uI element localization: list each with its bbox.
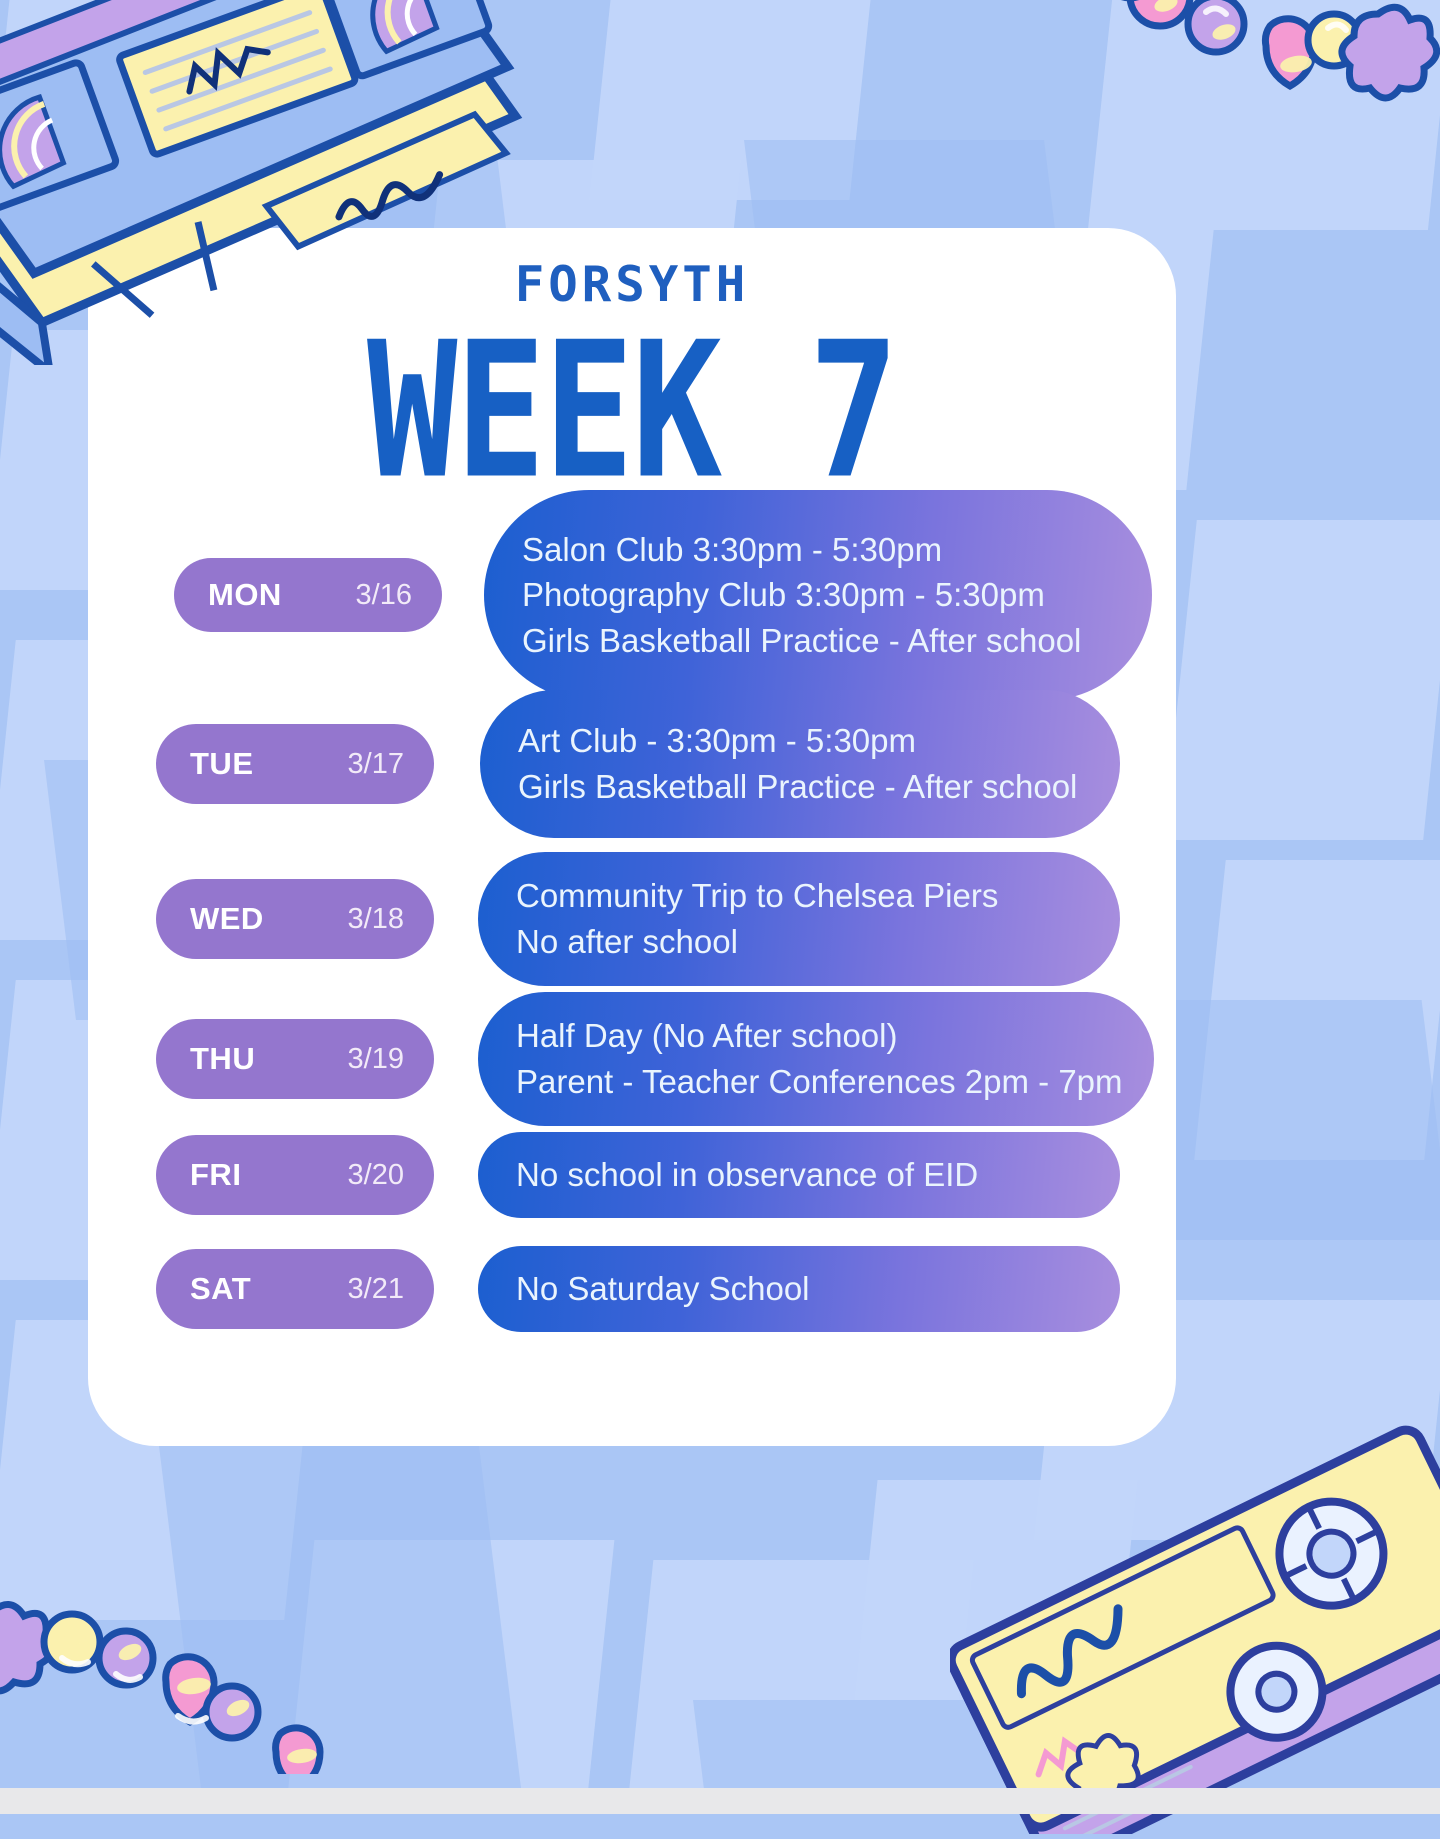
schedule-row: WED3/18Community Trip to Chelsea PiersNo… (0, 852, 1264, 986)
day-abbreviation: SAT (190, 1271, 251, 1307)
event-line: Girls Basketball Practice - After school (518, 764, 1098, 810)
event-pill-wed[interactable]: Community Trip to Chelsea PiersNo after … (478, 852, 1120, 986)
event-line: Community Trip to Chelsea Piers (516, 873, 1098, 919)
day-date: 3/16 (356, 579, 412, 612)
event-pill-sat[interactable]: No Saturday School (478, 1246, 1120, 1332)
schedule-row: MON3/16Salon Club 3:30pm - 5:30pmPhotogr… (0, 490, 1264, 700)
event-pill-thu[interactable]: Half Day (No After school)Parent - Teach… (478, 992, 1154, 1126)
day-pill-tue[interactable]: TUE3/17 (156, 724, 434, 804)
day-date: 3/20 (348, 1159, 404, 1192)
event-line: Girls Basketball Practice - After school (522, 618, 1130, 664)
page-title-week: WEEK 7 (0, 318, 1264, 506)
event-line: No Saturday School (516, 1266, 1098, 1312)
day-pill-sat[interactable]: SAT3/21 (156, 1249, 434, 1329)
event-pill-mon[interactable]: Salon Club 3:30pm - 5:30pmPhotography Cl… (484, 490, 1152, 700)
event-line: No after school (516, 919, 1098, 965)
day-date: 3/19 (348, 1043, 404, 1076)
event-line: No school in observance of EID (516, 1152, 1098, 1198)
day-abbreviation: WED (190, 901, 264, 937)
day-pill-fri[interactable]: FRI3/20 (156, 1135, 434, 1215)
day-pill-thu[interactable]: THU3/19 (156, 1019, 434, 1099)
event-line: Half Day (No After school) (516, 1013, 1132, 1059)
schedule-row: SAT3/21No Saturday School (0, 1246, 1264, 1332)
day-abbreviation: TUE (190, 746, 254, 782)
day-date: 3/17 (348, 748, 404, 781)
event-pill-tue[interactable]: Art Club - 3:30pm - 5:30pmGirls Basketba… (480, 690, 1120, 838)
schedule-row: THU3/19Half Day (No After school)Parent … (0, 992, 1264, 1126)
schedule-row: FRI3/20No school in observance of EID (0, 1132, 1264, 1218)
schedule-row: TUE3/17Art Club - 3:30pm - 5:30pmGirls B… (0, 690, 1264, 838)
bottom-strip (0, 1788, 1440, 1814)
event-line: Photography Club 3:30pm - 5:30pm (522, 572, 1130, 618)
day-date: 3/18 (348, 903, 404, 936)
day-date: 3/21 (348, 1273, 404, 1306)
day-abbreviation: FRI (190, 1157, 241, 1193)
event-pill-fri[interactable]: No school in observance of EID (478, 1132, 1120, 1218)
day-pill-wed[interactable]: WED3/18 (156, 879, 434, 959)
day-abbreviation: THU (190, 1041, 255, 1077)
event-line: Salon Club 3:30pm - 5:30pm (522, 527, 1130, 573)
day-abbreviation: MON (208, 577, 282, 613)
day-pill-mon[interactable]: MON3/16 (174, 558, 442, 632)
event-line: Art Club - 3:30pm - 5:30pm (518, 718, 1098, 764)
event-line: Parent - Teacher Conferences 2pm - 7pm (516, 1059, 1132, 1105)
